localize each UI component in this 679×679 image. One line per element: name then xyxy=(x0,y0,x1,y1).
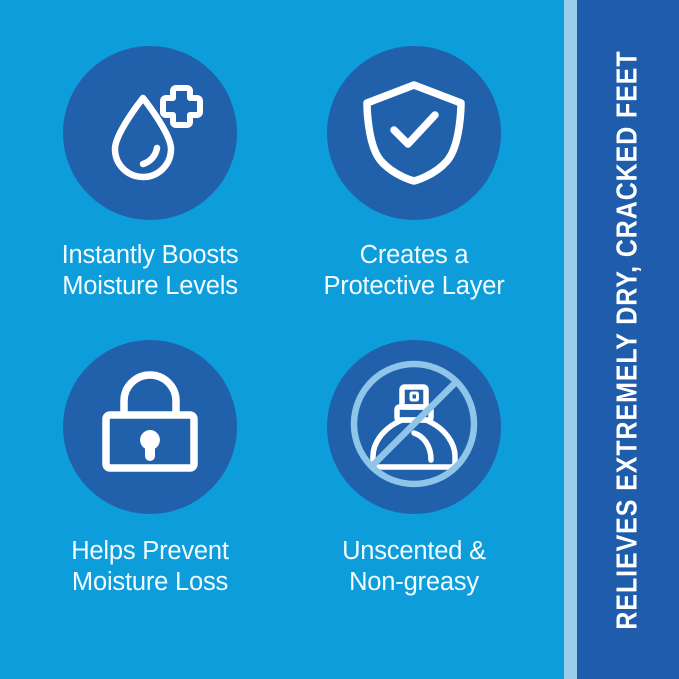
icon-circle-2 xyxy=(327,46,501,220)
feature-label-3: Helps Prevent Moisture Loss xyxy=(71,536,229,598)
product-feature-panel: Instantly Boosts Moisture Levels Creates… xyxy=(0,0,679,679)
no-fragrance-icon xyxy=(347,357,481,496)
icon-circle-3 xyxy=(63,340,237,514)
icon-circle-4 xyxy=(327,340,501,514)
feature-label-2: Creates a Protective Layer xyxy=(323,240,504,302)
banner-panel: RELIEVES EXTREMELY DRY, CRACKED FEET xyxy=(577,0,679,679)
water-drop-plus-icon xyxy=(91,72,209,195)
padlock-icon xyxy=(96,370,204,483)
feature-label-4: Unscented & Non-greasy xyxy=(342,536,486,598)
banner-headline: RELIEVES EXTREMELY DRY, CRACKED FEET xyxy=(612,50,645,629)
feature-item-unscented-non-greasy: Unscented & Non-greasy xyxy=(282,340,546,634)
feature-label-1: Instantly Boosts Moisture Levels xyxy=(62,240,239,302)
feature-grid: Instantly Boosts Moisture Levels Creates… xyxy=(0,0,564,679)
feature-item-creates-a-protective-layer: Creates a Protective Layer xyxy=(282,46,546,340)
shield-check-icon xyxy=(358,75,470,192)
icon-circle-1 xyxy=(63,46,237,220)
side-banner: RELIEVES EXTREMELY DRY, CRACKED FEET xyxy=(564,0,679,679)
feature-item-instantly-boosts-moisture-levels: Instantly Boosts Moisture Levels xyxy=(18,46,282,340)
feature-item-helps-prevent-moisture-loss: Helps Prevent Moisture Loss xyxy=(18,340,282,634)
banner-accent-stripe xyxy=(564,0,577,679)
